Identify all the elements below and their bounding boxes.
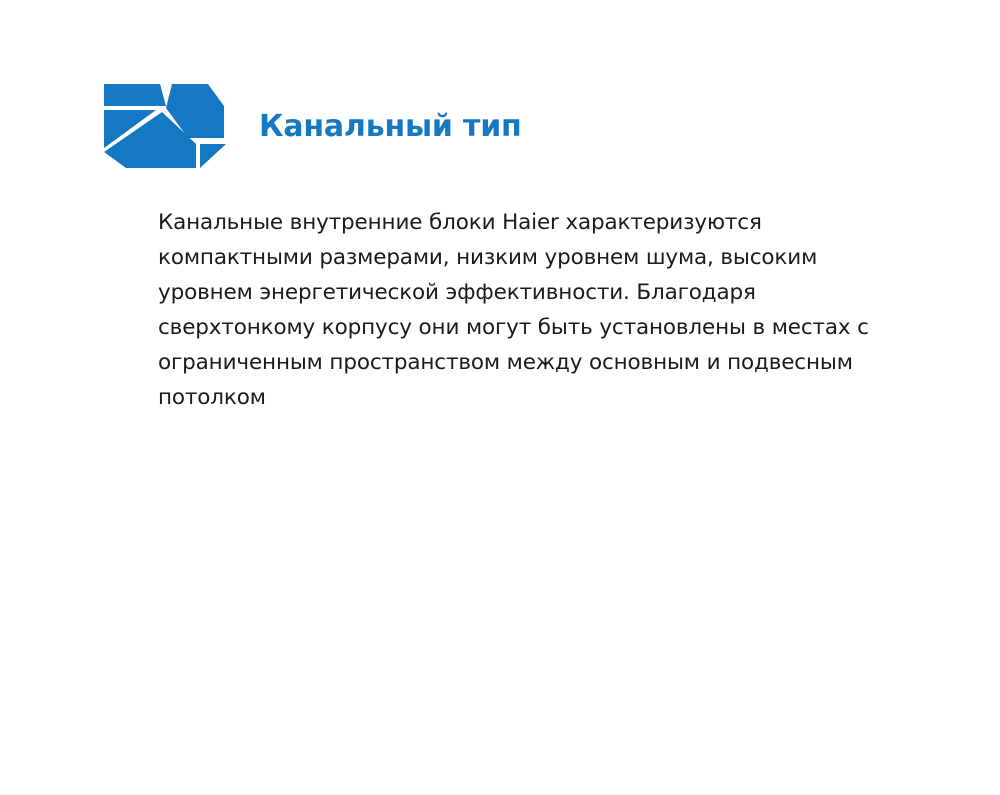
description-block: Канальные внутренние блоки Haier характе…: [158, 205, 888, 415]
haier-logo-icon: [100, 78, 226, 174]
slide-header: Канальный тип: [100, 78, 522, 174]
slide-canvas: Канальный тип Канальные внутренние блоки…: [0, 0, 1000, 795]
page-title: Канальный тип: [226, 110, 522, 143]
description-text: Канальные внутренние блоки Haier характе…: [158, 205, 888, 415]
